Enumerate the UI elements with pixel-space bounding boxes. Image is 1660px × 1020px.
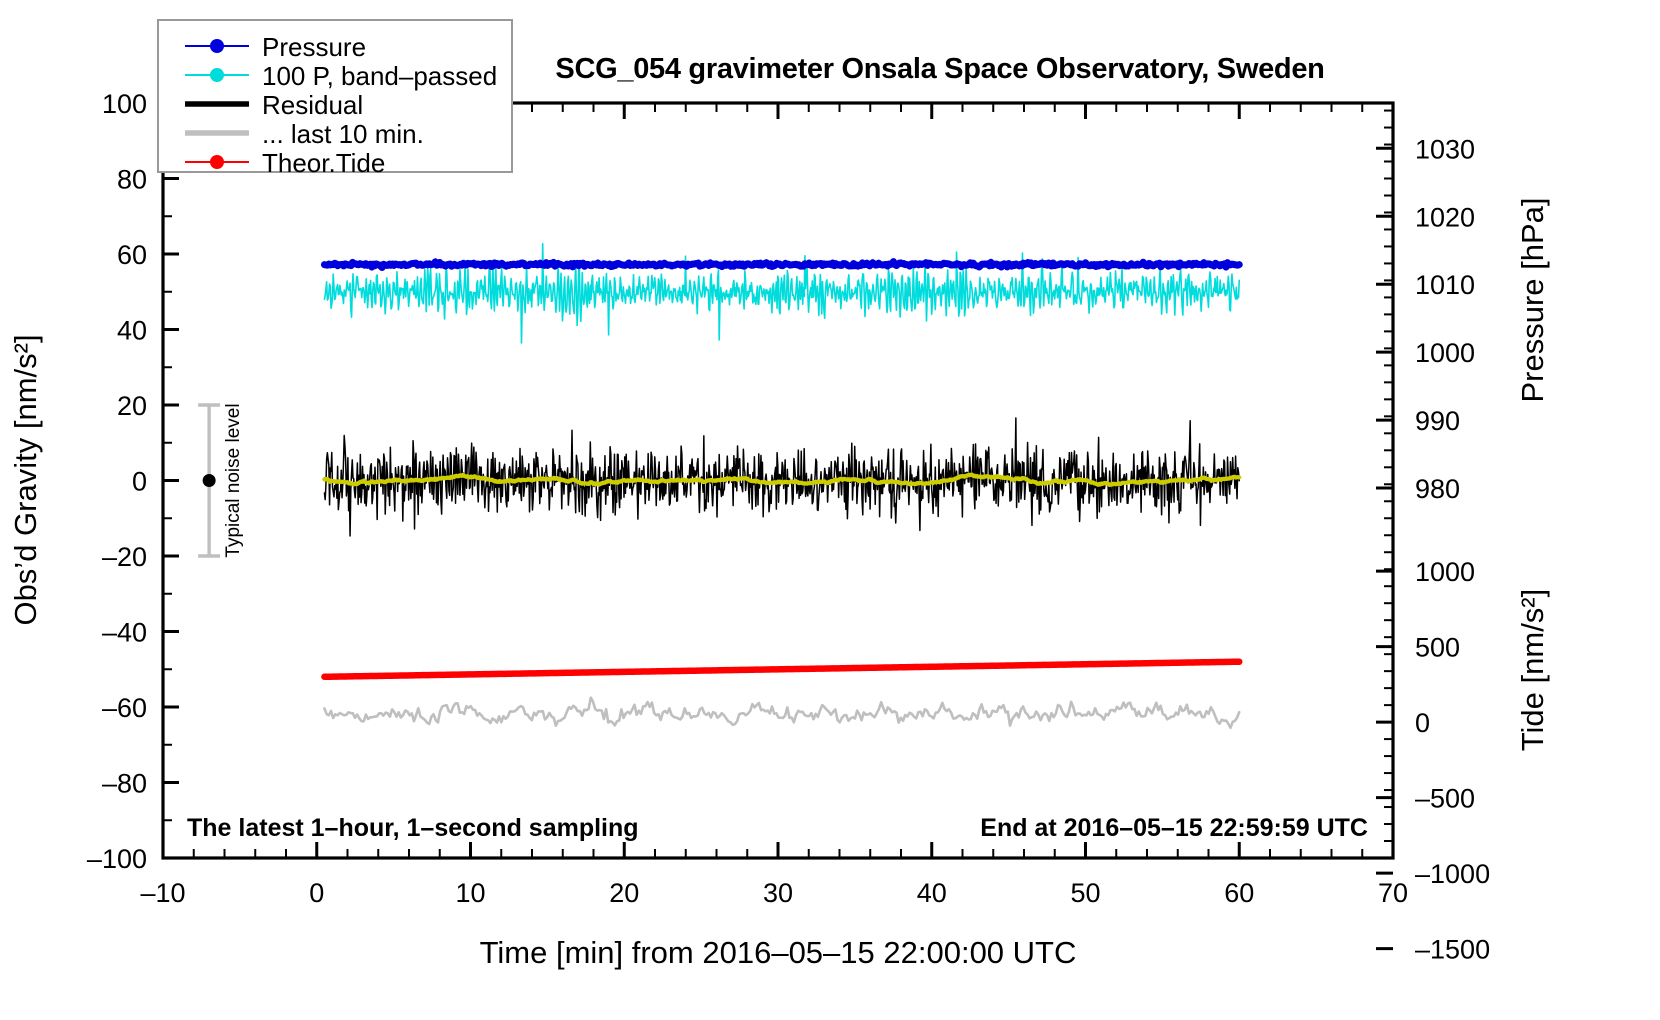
legend-label: Residual — [262, 90, 363, 120]
pressure-tick-label: 1010 — [1415, 270, 1475, 300]
trace-bandpassed-pressure — [324, 244, 1239, 343]
x-tick-label: 30 — [763, 878, 793, 908]
trace-last-10-min — [324, 698, 1239, 728]
y-tick-label: 80 — [117, 165, 147, 195]
x-tick-label: 20 — [609, 878, 639, 908]
annotation-sampling: The latest 1–hour, 1–second sampling — [187, 814, 639, 842]
annotation-end-time: End at 2016–05–15 22:59:59 UTC — [980, 814, 1368, 842]
y-axis-title-tide: Tide [nm/s²] — [1515, 589, 1550, 752]
y-tick-label: 40 — [117, 316, 147, 346]
y-tick-label: –40 — [102, 618, 147, 648]
pressure-tick-label: 990 — [1415, 406, 1460, 436]
chart-canvas: –10010203040506070100806040200–20–40–60–… — [0, 0, 1660, 1020]
x-tick-label: 0 — [309, 878, 324, 908]
legend-label: Theor.Tide — [262, 148, 385, 178]
y-tick-label: –20 — [102, 542, 147, 572]
tide-tick-label: 0 — [1415, 708, 1430, 738]
trace-pressure — [324, 262, 1239, 268]
y-axis-title-pressure: Pressure [hPa] — [1515, 197, 1550, 402]
pressure-tick-label: 980 — [1415, 474, 1460, 504]
pressure-tick-label: 1020 — [1415, 202, 1475, 232]
tide-tick-label: –500 — [1415, 784, 1475, 814]
typical-noise-level-marker: Typical noise level — [198, 403, 244, 557]
x-tick-label: 70 — [1378, 878, 1408, 908]
tide-tick-label: 500 — [1415, 633, 1460, 663]
y-tick-label: –80 — [102, 769, 147, 799]
y-tick-label: –100 — [87, 844, 147, 874]
x-axis-title: Time [min] from 2016–05–15 22:00:00 UTC — [480, 935, 1077, 970]
pressure-tick-label: 1000 — [1415, 338, 1475, 368]
x-tick-label: 60 — [1224, 878, 1254, 908]
x-tick-label: 10 — [455, 878, 485, 908]
legend-label: Pressure — [262, 32, 366, 62]
y-tick-label: 0 — [132, 467, 147, 497]
gravimeter-chart: –10010203040506070100806040200–20–40–60–… — [0, 0, 1660, 1020]
y-tick-label: 100 — [102, 89, 147, 119]
page-title: SCG_054 gravimeter Onsala Space Observat… — [555, 53, 1324, 85]
y-tick-label: 60 — [117, 240, 147, 270]
y-axis-title-left: Obs’d Gravity [nm/s²] — [8, 334, 43, 625]
x-tick-label: 50 — [1070, 878, 1100, 908]
y-tick-label: 20 — [117, 391, 147, 421]
legend-label: ... last 10 min. — [262, 119, 424, 149]
legend: Pressure100 P, band–passedResidual... la… — [158, 20, 512, 178]
tide-tick-label: –1000 — [1415, 859, 1490, 889]
data-traces — [324, 244, 1239, 728]
x-tick-label: –10 — [140, 878, 185, 908]
trace-theor-tide — [324, 662, 1239, 677]
tide-tick-label: 1000 — [1415, 557, 1475, 587]
tide-tick-label: –1500 — [1415, 935, 1490, 965]
y-tick-label: –60 — [102, 693, 147, 723]
x-tick-label: 40 — [917, 878, 947, 908]
pressure-tick-label: 1030 — [1415, 134, 1475, 164]
typical-noise-level-label: Typical noise level — [223, 403, 244, 557]
legend-label: 100 P, band–passed — [262, 61, 497, 91]
